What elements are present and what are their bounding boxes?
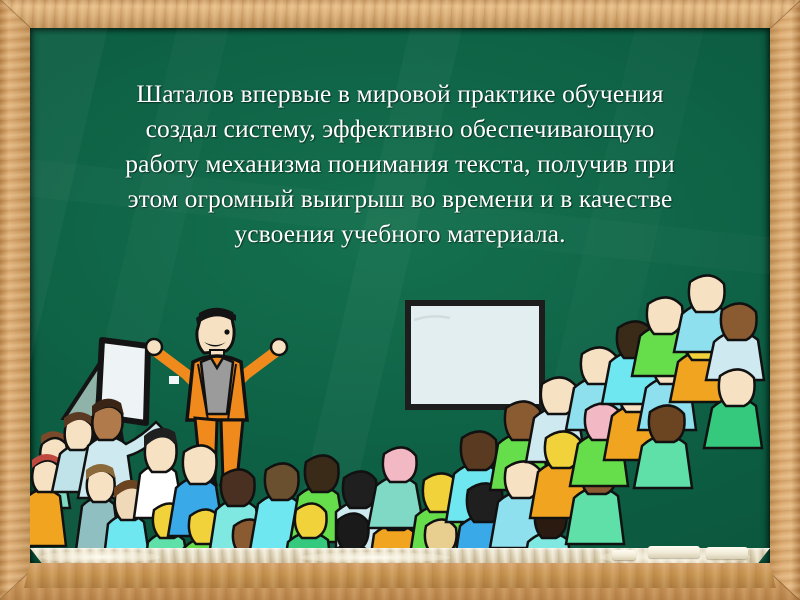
quote-line-5: усвоения учебного материала.	[68, 216, 732, 251]
chalkboard-slide: Шаталов впервые в мировой практике обуче…	[0, 0, 800, 600]
chalk-piece[interactable]	[648, 546, 700, 558]
frame-plank-left	[0, 0, 30, 600]
chalk-piece[interactable]	[706, 547, 748, 559]
chalk-piece[interactable]	[612, 550, 636, 560]
chalk-dust	[300, 552, 450, 563]
chalk-dust	[40, 551, 160, 563]
quote-line-2: создал систему, эффективно обеспечивающу…	[68, 111, 732, 146]
frame-plank-right	[770, 0, 800, 600]
lecture-audience-illustration	[30, 258, 770, 566]
projection-screen	[405, 300, 545, 410]
slide-quote-text: Шаталов впервые в мировой практике обуче…	[68, 76, 732, 251]
quote-line-3: работу механизма понимания текста, получ…	[68, 146, 732, 181]
quote-line-4: этом огромный выигрыш во времени и в кач…	[68, 181, 732, 216]
quote-line-1: Шаталов впервые в мировой практике обуче…	[68, 76, 732, 111]
chalk-ledge-front	[24, 563, 776, 588]
chalkboard-surface: Шаталов впервые в мировой практике обуче…	[30, 28, 770, 566]
frame-plank-top	[0, 0, 800, 28]
